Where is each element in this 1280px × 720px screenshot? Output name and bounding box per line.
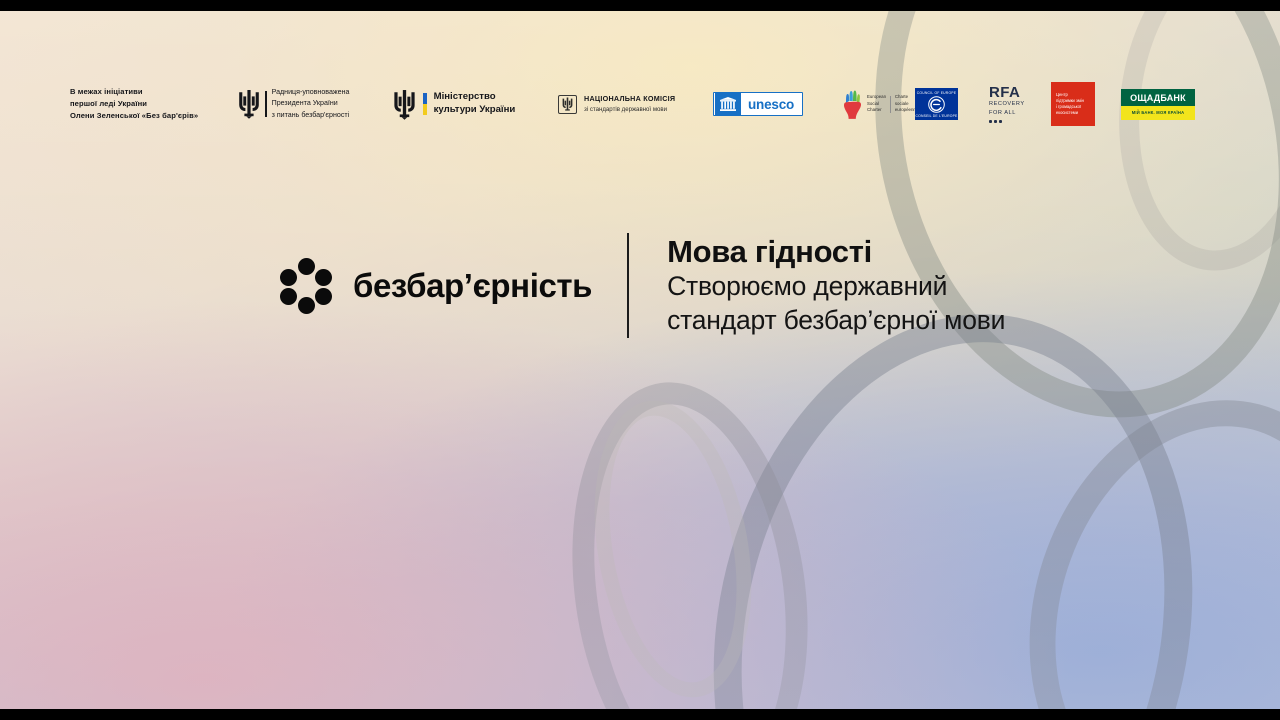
partner-national-commission: НАЦІОНАЛЬНА КОМІСІЯ зі стандартів держав… bbox=[558, 75, 713, 133]
unesco-temple-icon bbox=[715, 93, 741, 115]
initiative-line-2: першої леді України bbox=[70, 98, 198, 110]
charter-en-3: Charter bbox=[867, 107, 886, 114]
rfa-acronym: RFA bbox=[989, 85, 1020, 100]
partner-civic-ecosystem-center: Центр підтримки змін і громадської екоси… bbox=[1051, 75, 1121, 133]
decorative-ring-icon bbox=[977, 356, 1280, 709]
partner-ministry-of-culture: Міністерство культури України bbox=[393, 75, 558, 133]
ukraine-trident-icon bbox=[238, 89, 260, 119]
title-card: В межах ініціативи першої леді України О… bbox=[0, 11, 1280, 709]
center-line-4: екосистеми bbox=[1056, 110, 1084, 116]
oschadbank-title: ОЩАДБАНК bbox=[1121, 89, 1195, 106]
partner-european-social-charter: European Social Charter Charte sociale e… bbox=[843, 75, 915, 133]
page-title: Мова гідності bbox=[667, 234, 1005, 271]
ukraine-trident-boxed-icon bbox=[558, 95, 577, 114]
commission-line-2: зі стандартів державної мови bbox=[584, 105, 675, 114]
coe-bottom-caption: CONSEIL DE L'EUROPE bbox=[915, 114, 957, 118]
partner-oschadbank: ОЩАДБАНК МІЙ БАНК. МОЯ КРАЇНА bbox=[1121, 75, 1201, 133]
advisor-line-2: Президента України bbox=[272, 98, 350, 109]
ukraine-flag-bar-icon bbox=[423, 93, 427, 115]
advisor-line-1: Радниця-уповноважена bbox=[272, 87, 350, 98]
main-lockup: безбар’єрність Мова гідності Створюємо д… bbox=[278, 233, 1005, 338]
initiative-line-3: Олени Зеленської «Без бар'єрів» bbox=[70, 110, 198, 122]
oschadbank-tagline: МІЙ БАНК. МОЯ КРАЇНА bbox=[1121, 106, 1195, 120]
bezbariernist-wordmark: безбар’єрність bbox=[353, 267, 592, 305]
partner-logo-strip: В межах ініціативи першої леді України О… bbox=[70, 75, 1210, 133]
ukraine-trident-icon bbox=[393, 89, 416, 120]
ministry-line-2: культури України bbox=[434, 104, 516, 117]
ministry-line-1: Міністерство bbox=[434, 91, 516, 104]
six-dot-circle-icon bbox=[278, 258, 334, 314]
charter-en-2: Social bbox=[867, 101, 886, 108]
letterbox-bottom bbox=[0, 709, 1280, 720]
partner-initiative-credit: В межах ініціативи першої леді України О… bbox=[70, 75, 238, 133]
decorative-ring-icon bbox=[547, 367, 833, 709]
letterbox-top bbox=[0, 0, 1280, 11]
unesco-wordmark: unesco bbox=[742, 97, 802, 112]
decorative-ring-icon bbox=[573, 388, 773, 709]
advisor-line-3: з питань безбар'єрності bbox=[272, 110, 350, 121]
initiative-line-1: В межах ініціативи bbox=[70, 86, 198, 98]
partner-presidential-advisor: Радниця-уповноважена Президента України … bbox=[238, 75, 393, 133]
charter-en-1: European bbox=[867, 94, 886, 101]
coe-top-caption: COUNCIL OF EUROPE bbox=[917, 91, 956, 95]
page-subtitle-line-2: стандарт безбар’єрної мови bbox=[667, 304, 1005, 337]
advisor-rule bbox=[265, 91, 267, 117]
commission-line-1: НАЦІОНАЛЬНА КОМІСІЯ bbox=[584, 94, 675, 105]
slide-stage: В межах ініціативи першої леді України О… bbox=[0, 0, 1280, 720]
partner-council-of-europe: COUNCIL OF EUROPE CONSEIL DE L'EUROPE bbox=[915, 75, 979, 133]
rfa-line-1: RECOVERY bbox=[989, 101, 1025, 109]
partner-unesco: unesco bbox=[713, 75, 843, 133]
vertical-divider bbox=[627, 233, 629, 338]
coe-e-icon bbox=[928, 96, 945, 113]
rfa-line-2: FOR ALL bbox=[989, 110, 1016, 118]
charter-divider bbox=[890, 96, 891, 113]
partner-recovery-for-all: RFA RECOVERY FOR ALL bbox=[979, 75, 1051, 133]
bezbariernist-brand: безбар’єрність bbox=[278, 258, 592, 314]
headline-block: Мова гідності Створюємо державний станда… bbox=[667, 234, 1005, 337]
page-subtitle-line-1: Створюємо державний bbox=[667, 270, 1005, 303]
decorative-ring-icon bbox=[1103, 11, 1280, 281]
colored-hand-icon bbox=[843, 89, 863, 119]
rfa-dots-icon bbox=[989, 120, 1002, 123]
